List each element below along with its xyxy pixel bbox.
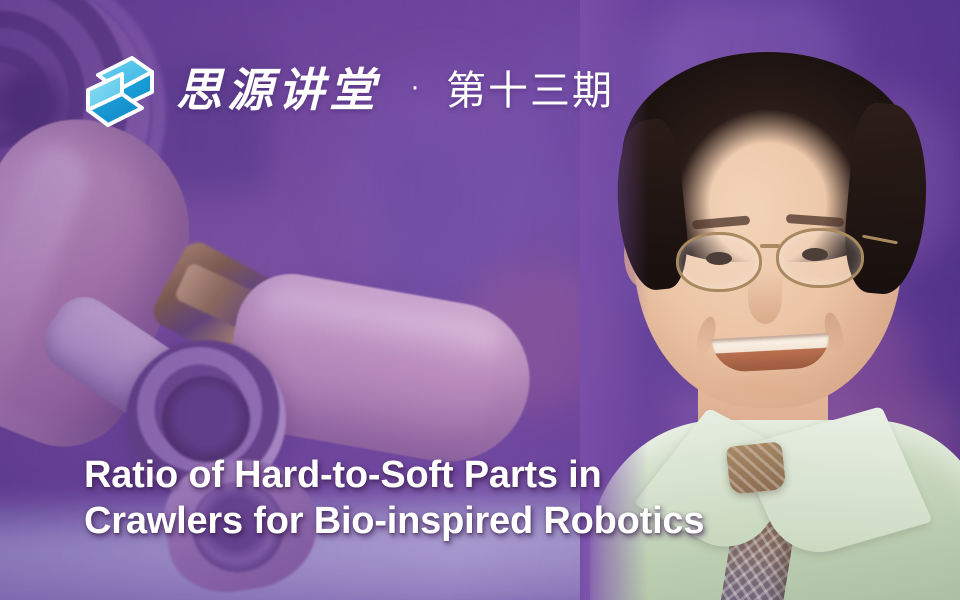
brand-name: 思源讲堂 (176, 68, 380, 114)
lecture-title-line1: Ratio of Hard-to-Soft Parts in (84, 452, 804, 498)
lecture-banner: 思源讲堂 · 第十三期 Ratio of Hard-to-Soft Parts … (0, 0, 960, 600)
siyuan-s-logo-icon (84, 52, 156, 130)
brand-separator: · (400, 72, 426, 102)
lecture-title-line2: Crawlers for Bio-inspired Robotics (84, 498, 804, 544)
brand-header: 思源讲堂 · 第十三期 (84, 52, 614, 130)
issue-number: 第十三期 (446, 71, 614, 111)
lecture-title: Ratio of Hard-to-Soft Parts in Crawlers … (84, 452, 804, 545)
